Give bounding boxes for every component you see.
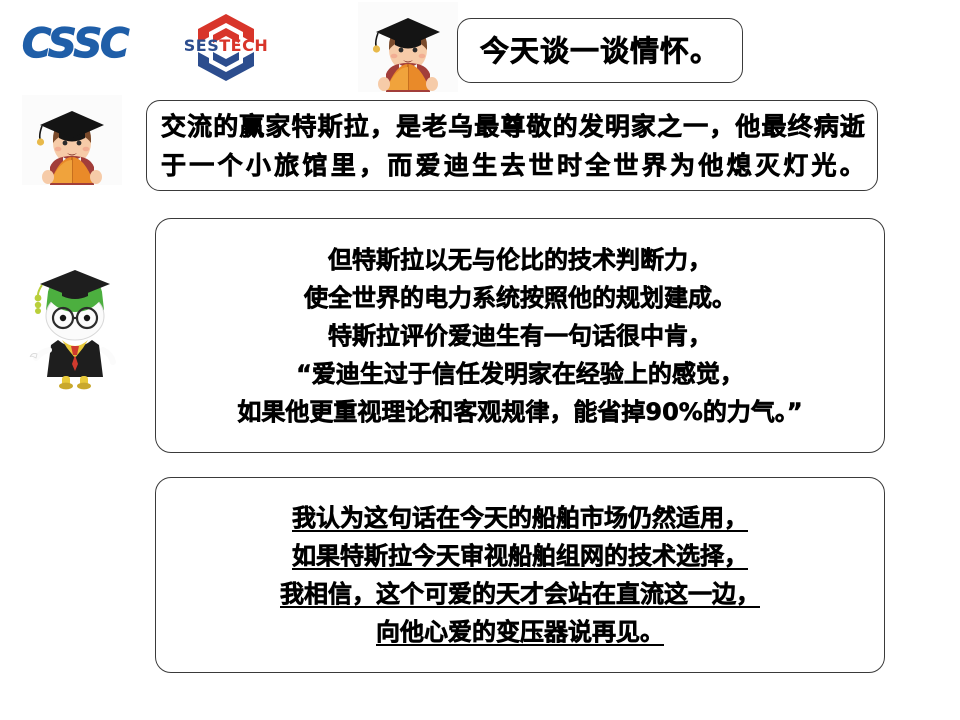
belief-line-4: 向他心爱的变压器说再见。 xyxy=(376,613,664,651)
tesla-textbox: 交流的赢家特斯拉，是老乌最尊敬的发明家之一，他最终病逝于一个小旅馆里，而爱迪生去… xyxy=(146,100,878,191)
title-textbox: 今天谈一谈情怀。 xyxy=(457,18,743,83)
graduate-boy-icon xyxy=(22,95,122,185)
judgment-line-4: “爱迪生过于信任发明家在经验上的感觉， xyxy=(296,355,744,393)
slide-canvas: CSSC SESTECH xyxy=(0,0,960,720)
judgment-line-1: 但特斯拉以无与伦比的技术判断力， xyxy=(328,241,712,279)
green-haired-graduate-icon xyxy=(18,258,132,390)
belief-line-3: 我相信，这个可爱的天才会站在直流这一边， xyxy=(280,575,760,613)
title-text: 今天谈一谈情怀。 xyxy=(480,34,720,68)
green-haired-graduate xyxy=(18,258,132,390)
sestech-logo: SESTECH xyxy=(176,10,276,82)
judgment-line-3: 特斯拉评价爱迪生有一句话很中肯， xyxy=(328,317,712,355)
belief-textbox: 我认为这句话在今天的船舶市场仍然适用， 如果特斯拉今天审视船舶组网的技术选择， … xyxy=(155,477,885,673)
judgment-line-5: 如果他更重视理论和客观规律，能省掉90%的力气。” xyxy=(237,393,802,431)
tesla-text: 交流的赢家特斯拉，是老乌最尊敬的发明家之一，他最终病逝于一个小旅馆里，而爱迪生去… xyxy=(161,107,865,185)
belief-line-2: 如果特斯拉今天审视船舶组网的技术选择， xyxy=(292,537,748,575)
judgment-line-2: 使全世界的电力系统按照他的规划建成。 xyxy=(304,279,736,317)
sestech-logo-text-tech: TECH xyxy=(219,36,268,55)
cssc-logo-text: CSSC xyxy=(22,18,162,70)
graduate-boy-icon xyxy=(358,2,458,92)
sestech-logo-text-ses: SES xyxy=(184,36,219,55)
belief-line-1: 我认为这句话在今天的船舶市场仍然适用， xyxy=(292,499,748,537)
graduate-boy-left xyxy=(22,95,122,185)
judgment-textbox: 但特斯拉以无与伦比的技术判断力， 使全世界的电力系统按照他的规划建成。 特斯拉评… xyxy=(155,218,885,453)
cssc-logo: CSSC xyxy=(22,18,162,70)
graduate-boy-top xyxy=(358,2,458,92)
sestech-logo-text: SESTECH xyxy=(176,37,276,55)
